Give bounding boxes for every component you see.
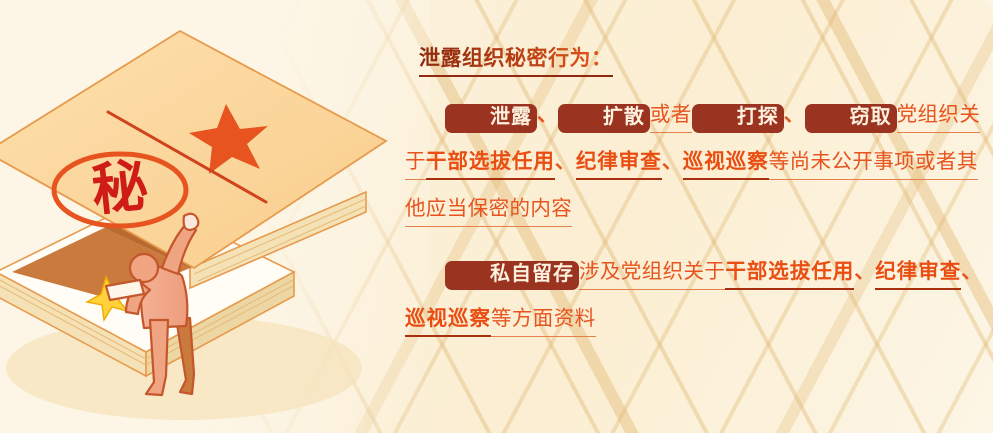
emphasis-keyword: 干部选拔任用 — [426, 150, 555, 180]
keyword-tag: 窃取 — [805, 104, 897, 132]
emphasis-keyword: 巡视巡察 — [683, 150, 769, 180]
paragraph-1: 泄露、扩散或者打探、窃取党组织关于干部选拔任用、纪律审查、巡视巡察等尚未公开事项… — [405, 91, 993, 232]
separator: 、 — [854, 260, 875, 283]
emphasis-keyword: 巡视巡察 — [405, 307, 491, 337]
separator: 、 — [555, 150, 576, 173]
body-text: 或者 — [650, 103, 692, 133]
page-title: 泄露组织秘密行为： — [419, 46, 613, 77]
separator: 、 — [961, 260, 982, 283]
emphasis-keyword: 干部选拔任用 — [725, 260, 854, 290]
keyword-tag: 泄露 — [445, 104, 537, 132]
keyword-tag: 扩散 — [558, 104, 650, 132]
separator: 、 — [537, 103, 558, 126]
emphasis-keyword: 纪律审查 — [576, 150, 662, 180]
separator: 、 — [784, 103, 805, 126]
body-text: 等方面资料 — [491, 307, 596, 337]
keyword-tag: 打探 — [692, 104, 784, 132]
emphasis-keyword: 纪律审查 — [875, 260, 961, 290]
text-column: 泄露组织秘密行为： 泄露、扩散或者打探、窃取党组织关于干部选拔任用、纪律审查、巡… — [405, 46, 993, 416]
svg-text:秘: 秘 — [88, 152, 151, 223]
book-secret-photograph-illustration: 秘 — [0, 0, 406, 433]
separator: 、 — [662, 150, 683, 173]
keyword-tag: 私自留存 — [445, 261, 579, 289]
body-text: 涉及党组织关于 — [579, 260, 725, 290]
paragraph-2: 私自留存涉及党组织关于干部选拔任用、纪律审查、巡视巡察等方面资料 — [405, 248, 993, 342]
infographic-card: 秘 泄露组织秘密行为： 泄露、扩散或者打探、窃取党组织关于干部选拔任用、纪律 — [0, 0, 993, 433]
